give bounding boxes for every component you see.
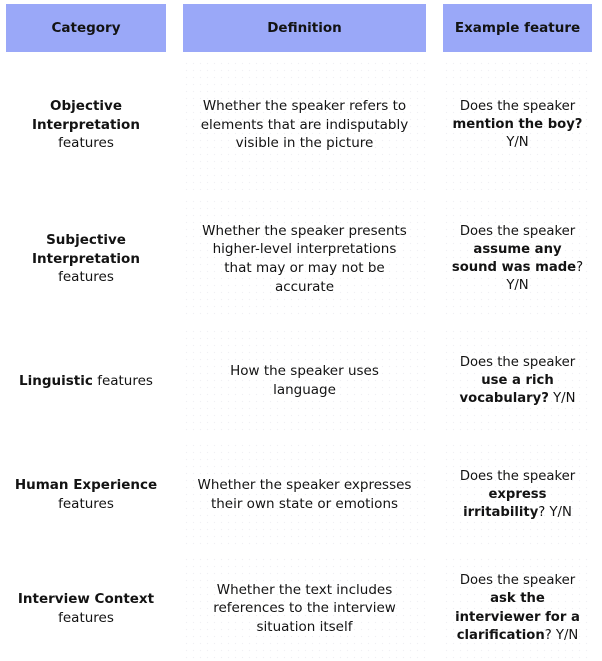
feature-category-table: Category Definition Example feature Obje… [0,0,602,650]
category-name: Interview Context features [14,590,158,627]
table-row-example-cell: Does the speaker mention the boy? Y/N [443,60,592,190]
table-row-category-cell: Objective Interpretation features [6,60,166,190]
table-row-category-cell: Subjective Interpretation features [6,198,166,320]
example-text: Does the speaker assume any sound was ma… [449,223,586,296]
example-text: Does the speaker ask the interviewer for… [449,572,586,645]
category-name-suffix: features [97,373,153,389]
example-lead: Does the speaker [460,224,575,239]
table-grid: Category Definition Example feature Obje… [6,4,583,644]
category-name: Subjective Interpretation features [14,231,158,287]
category-name-suffix: features [58,496,114,512]
example-lead: Does the speaker [460,573,575,588]
example-tail: ? Y/N [545,628,579,643]
definition-text: Whether the speaker expresses their own … [197,476,412,513]
table-row-definition-cell: Whether the speaker refers to elements t… [183,60,426,190]
category-name: Objective Interpretation features [14,97,158,153]
column-header-example-feature-label: Example feature [451,19,584,38]
column-header-category-label: Category [14,19,158,38]
table-row-category-cell: Human Experience features [6,442,166,548]
example-tail: ? Y/N [538,505,572,520]
column-header-definition-label: Definition [191,19,418,38]
example-tail: Y/N [506,135,528,150]
category-name-suffix: features [58,269,114,285]
table-row-definition-cell: Whether the text includes references to … [183,556,426,661]
category-name-bold: Linguistic [19,373,93,389]
example-tail: Y/N [549,391,576,406]
table-row-example-cell: Does the speaker use a rich vocabulary? … [443,328,592,434]
example-text: Does the speaker mention the boy? Y/N [449,98,586,153]
table-row-category-cell: Interview Context features [6,556,166,661]
example-text: Does the speaker express irritability? Y… [449,468,586,523]
example-bold: assume any sound was made [452,242,576,275]
example-lead: Does the speaker [460,355,575,370]
definition-text: Whether the speaker refers to elements t… [197,97,412,153]
category-name-suffix: features [58,135,114,151]
category-name-bold: Objective Interpretation [32,98,140,133]
category-name: Human Experience features [14,476,158,513]
example-bold: mention the boy? [453,117,583,132]
category-name: Linguistic features [14,372,158,391]
example-lead: Does the speaker [460,469,575,484]
example-lead: Does the speaker [460,99,575,114]
table-row-example-cell: Does the speaker express irritability? Y… [443,442,592,548]
column-header-category: Category [6,4,166,52]
definition-text: Whether the speaker presents higher-leve… [197,222,412,297]
category-name-suffix: features [58,610,114,626]
category-name-bold: Subjective Interpretation [32,232,140,267]
table-row-example-cell: Does the speaker assume any sound was ma… [443,198,592,320]
table-row-definition-cell: Whether the speaker expresses their own … [183,442,426,548]
example-bold: express irritability [463,487,546,520]
column-header-example-feature: Example feature [443,4,592,52]
definition-text: Whether the text includes references to … [197,581,412,637]
table-row-definition-cell: How the speaker uses language [183,328,426,434]
example-bold: use a rich vocabulary? [460,373,554,406]
table-row-definition-cell: Whether the speaker presents higher-leve… [183,198,426,320]
table-row-category-cell: Linguistic features [6,328,166,434]
category-name-bold: Interview Context [18,591,154,607]
category-name-bold: Human Experience [15,477,157,493]
table-row-example-cell: Does the speaker ask the interviewer for… [443,556,592,661]
column-header-definition: Definition [183,4,426,52]
definition-text: How the speaker uses language [197,362,412,399]
example-text: Does the speaker use a rich vocabulary? … [449,354,586,409]
